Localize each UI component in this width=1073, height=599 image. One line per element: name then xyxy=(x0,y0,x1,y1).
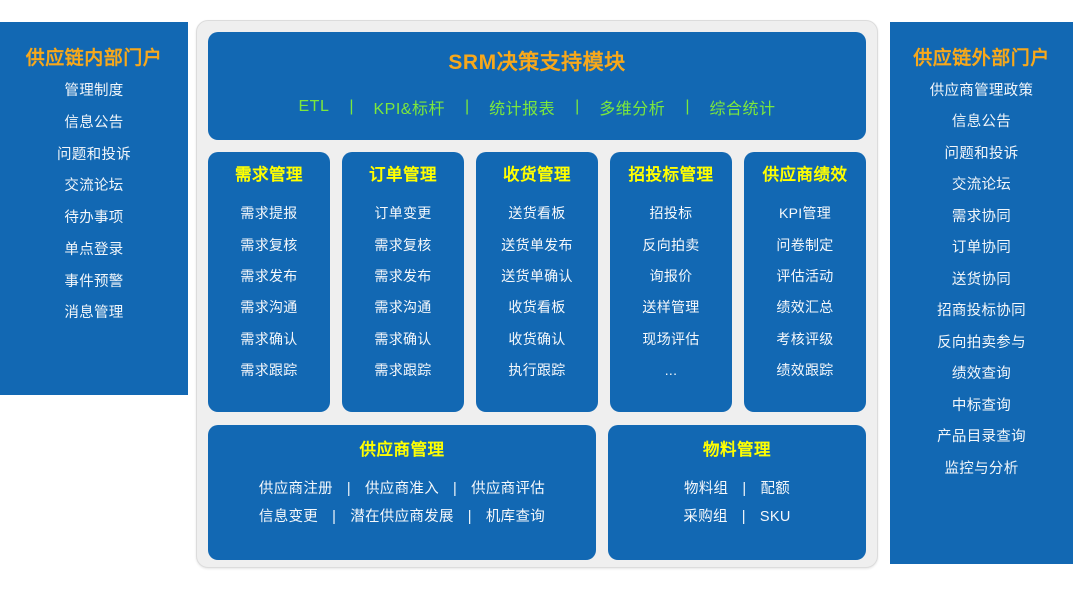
column-item[interactable]: 评估活动 xyxy=(776,260,833,291)
card-link-row: 采购组 | SKU xyxy=(669,503,804,532)
card-title: 供应商管理 xyxy=(360,442,445,459)
column-item[interactable]: 需求复核 xyxy=(240,229,297,260)
column-item[interactable]: 需求复核 xyxy=(374,229,431,260)
column-item[interactable]: 送货单确认 xyxy=(501,260,573,291)
left-portal-item[interactable]: 事件预警 xyxy=(0,265,188,297)
card-link[interactable]: 信息变更 xyxy=(245,510,332,525)
card-link[interactable]: 机库查询 xyxy=(472,510,559,525)
module-column-bidding: 招投标管理 招投标 反向拍卖 询报价 送样管理 现场评估 ... xyxy=(610,152,732,412)
card-link[interactable]: 供应商评估 xyxy=(457,482,559,497)
left-portal-list: 管理制度 信息公告 问题和投诉 交流论坛 待办事项 单点登录 事件预警 消息管理 xyxy=(0,75,188,329)
left-portal-item[interactable]: 问题和投诉 xyxy=(0,138,188,170)
left-portal-item[interactable]: 消息管理 xyxy=(0,297,188,329)
column-title: 供应商绩效 xyxy=(763,167,848,184)
column-item[interactable]: 绩效汇总 xyxy=(776,292,833,323)
column-item[interactable]: 需求确认 xyxy=(240,323,297,354)
right-portal-panel: 供应链外部门户 供应商管理政策 信息公告 问题和投诉 交流论坛 需求协同 订单协… xyxy=(890,22,1073,564)
module-column-supplier-performance: 供应商绩效 KPI管理 问卷制定 评估活动 绩效汇总 考核评级 绩效跟踪 xyxy=(744,152,866,412)
supply-chain-architecture-diagram: 供应链内部门户 管理制度 信息公告 问题和投诉 交流论坛 待办事项 单点登录 事… xyxy=(0,0,1073,599)
column-item[interactable]: 执行跟踪 xyxy=(508,354,565,385)
card-link-row: 物料组 | 配额 xyxy=(670,475,804,504)
column-item[interactable]: KPI管理 xyxy=(779,198,831,229)
column-title: 订单管理 xyxy=(369,167,437,184)
srm-link[interactable]: ETL xyxy=(279,98,350,116)
right-portal-item[interactable]: 送货协同 xyxy=(890,264,1073,296)
card-link[interactable]: 供应商准入 xyxy=(351,482,453,497)
column-item[interactable]: 需求发布 xyxy=(374,260,431,291)
srm-link[interactable]: 综合统计 xyxy=(689,95,795,119)
right-portal-item[interactable]: 招商投标协同 xyxy=(890,295,1073,327)
column-item[interactable]: 需求跟踪 xyxy=(374,354,431,385)
card-link-row: 信息变更 | 潜在供应商发展 | 机库查询 xyxy=(245,503,559,532)
column-item[interactable]: 订单变更 xyxy=(374,198,431,229)
column-title: 收货管理 xyxy=(503,167,571,184)
card-link[interactable]: SKU xyxy=(746,510,805,525)
srm-decision-support-card: SRM决策支持模块 ETL | KPI&标杆 | 统计报表 | 多维分析 | 综… xyxy=(208,32,866,140)
right-portal-item[interactable]: 中标查询 xyxy=(890,390,1073,422)
card-link[interactable]: 供应商注册 xyxy=(245,482,347,497)
column-item[interactable]: 反向拍卖 xyxy=(642,229,699,260)
column-item[interactable]: 需求沟通 xyxy=(374,292,431,323)
left-portal-title: 供应链内部门户 xyxy=(0,22,188,75)
bottom-cards-row: 供应商管理 供应商注册 | 供应商准入 | 供应商评估 信息变更 | 潜在供应商… xyxy=(208,425,866,560)
right-portal-item[interactable]: 绩效查询 xyxy=(890,358,1073,390)
module-column-receiving: 收货管理 送货看板 送货单发布 送货单确认 收货看板 收货确认 执行跟踪 xyxy=(476,152,598,412)
separator: | xyxy=(742,482,746,497)
column-item[interactable]: 需求提报 xyxy=(240,198,297,229)
right-portal-list: 供应商管理政策 信息公告 问题和投诉 交流论坛 需求协同 订单协同 送货协同 招… xyxy=(890,75,1073,485)
material-management-card: 物料管理 物料组 | 配额 采购组 | SKU xyxy=(608,425,866,560)
srm-link[interactable]: KPI&标杆 xyxy=(354,95,465,119)
srm-link[interactable]: 统计报表 xyxy=(469,95,575,119)
left-portal-item[interactable]: 单点登录 xyxy=(0,233,188,265)
column-item-more[interactable]: ... xyxy=(665,354,678,385)
left-portal-item[interactable]: 管理制度 xyxy=(0,75,188,107)
card-link[interactable]: 配额 xyxy=(746,482,804,497)
card-link[interactable]: 潜在供应商发展 xyxy=(336,510,468,525)
column-item[interactable]: 现场评估 xyxy=(642,323,699,354)
right-portal-item[interactable]: 供应商管理政策 xyxy=(890,75,1073,107)
card-link[interactable]: 采购组 xyxy=(669,510,741,525)
column-item[interactable]: 收货看板 xyxy=(508,292,565,323)
column-item[interactable]: 送货单发布 xyxy=(501,229,573,260)
column-title: 需求管理 xyxy=(235,167,303,184)
separator: | xyxy=(332,510,336,525)
card-link-row: 供应商注册 | 供应商准入 | 供应商评估 xyxy=(245,475,559,504)
right-portal-item[interactable]: 需求协同 xyxy=(890,201,1073,233)
right-portal-title: 供应链外部门户 xyxy=(890,22,1073,75)
right-portal-item[interactable]: 产品目录查询 xyxy=(890,421,1073,453)
column-item[interactable]: 绩效跟踪 xyxy=(776,354,833,385)
card-link[interactable]: 物料组 xyxy=(670,482,742,497)
srm-module-title: SRM决策支持模块 xyxy=(208,52,866,73)
right-portal-item[interactable]: 问题和投诉 xyxy=(890,138,1073,170)
srm-system-container: SRM决策支持模块 ETL | KPI&标杆 | 统计报表 | 多维分析 | 综… xyxy=(196,20,878,568)
column-item[interactable]: 需求确认 xyxy=(374,323,431,354)
right-portal-item[interactable]: 反向拍卖参与 xyxy=(890,327,1073,359)
srm-link-row: ETL | KPI&标杆 | 统计报表 | 多维分析 | 综合统计 xyxy=(208,95,866,119)
column-item[interactable]: 问卷制定 xyxy=(776,229,833,260)
srm-link[interactable]: 多维分析 xyxy=(579,95,685,119)
separator: | xyxy=(453,482,457,497)
column-item[interactable]: 招投标 xyxy=(650,198,693,229)
right-portal-item[interactable]: 监控与分析 xyxy=(890,453,1073,485)
card-title: 物料管理 xyxy=(703,442,771,459)
right-portal-item[interactable]: 信息公告 xyxy=(890,106,1073,138)
module-columns: 需求管理 需求提报 需求复核 需求发布 需求沟通 需求确认 需求跟踪 订单管理 … xyxy=(208,152,866,412)
column-item[interactable]: 送货看板 xyxy=(508,198,565,229)
column-item[interactable]: 考核评级 xyxy=(776,323,833,354)
column-item[interactable]: 需求沟通 xyxy=(240,292,297,323)
column-item[interactable]: 需求发布 xyxy=(240,260,297,291)
module-column-order: 订单管理 订单变更 需求复核 需求发布 需求沟通 需求确认 需求跟踪 xyxy=(342,152,464,412)
supplier-management-card: 供应商管理 供应商注册 | 供应商准入 | 供应商评估 信息变更 | 潜在供应商… xyxy=(208,425,596,560)
separator: | xyxy=(347,482,351,497)
left-portal-panel: 供应链内部门户 管理制度 信息公告 问题和投诉 交流论坛 待办事项 单点登录 事… xyxy=(0,22,188,395)
column-item[interactable]: 送样管理 xyxy=(642,292,699,323)
column-item[interactable]: 收货确认 xyxy=(508,323,565,354)
separator: | xyxy=(742,510,746,525)
column-item[interactable]: 询报价 xyxy=(650,260,693,291)
module-column-demand: 需求管理 需求提报 需求复核 需求发布 需求沟通 需求确认 需求跟踪 xyxy=(208,152,330,412)
left-portal-item[interactable]: 待办事项 xyxy=(0,202,188,234)
column-item[interactable]: 需求跟踪 xyxy=(240,354,297,385)
column-title: 招投标管理 xyxy=(629,167,714,184)
left-portal-item[interactable]: 交流论坛 xyxy=(0,170,188,202)
right-portal-item[interactable]: 订单协同 xyxy=(890,232,1073,264)
separator: | xyxy=(468,510,472,525)
left-portal-item[interactable]: 信息公告 xyxy=(0,106,188,138)
right-portal-item[interactable]: 交流论坛 xyxy=(890,169,1073,201)
